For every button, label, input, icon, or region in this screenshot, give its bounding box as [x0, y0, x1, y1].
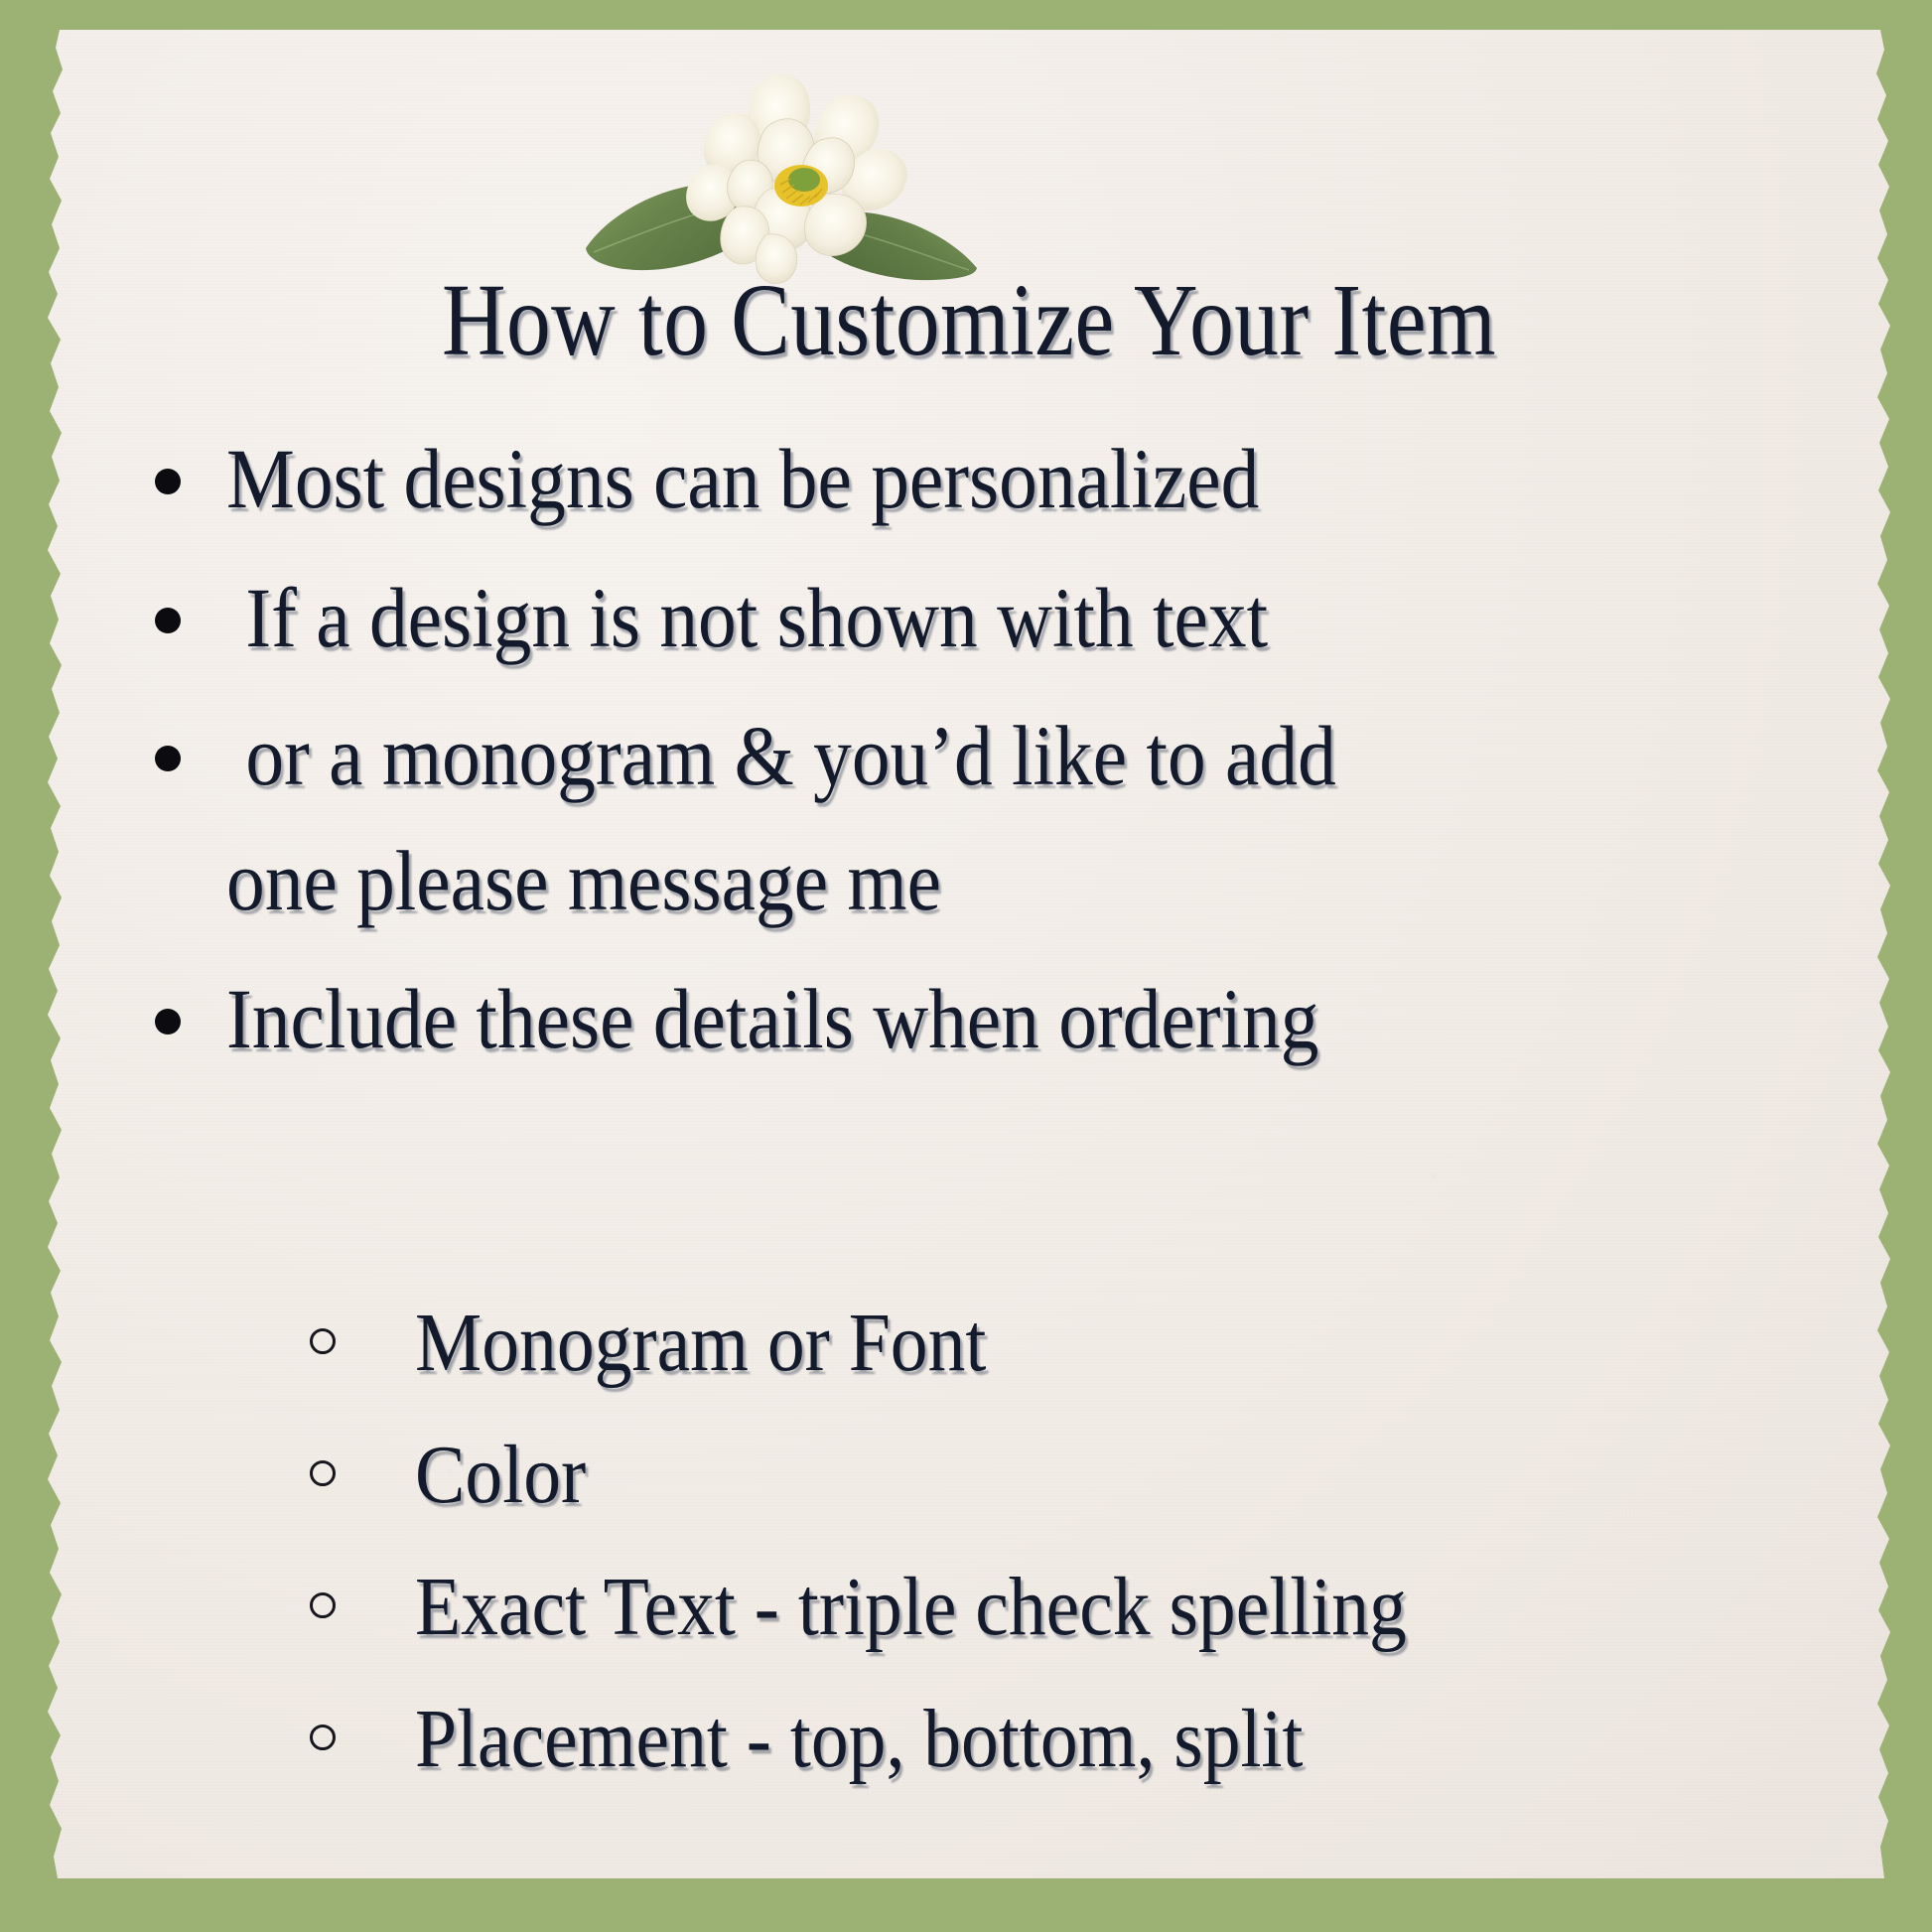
torn-paper-edge-right: [1859, 30, 1896, 1878]
page-title: How to Customize Your Item: [172, 266, 1766, 374]
bullet-label: Most designs can be personalized: [226, 417, 1683, 542]
magnolia-flower-icon: [574, 58, 991, 286]
ordering-details-sublist: Monogram or Font Color Exact Text - trip…: [300, 1289, 1849, 1817]
hollow-circle-icon: [310, 1725, 336, 1750]
list-item: Color: [300, 1421, 1849, 1531]
bullet-label-continued: one please message me: [226, 819, 1683, 944]
hollow-circle-icon: [310, 1328, 336, 1354]
torn-paper-edge-left: [42, 30, 79, 1878]
list-item: Placement - top, bottom, split: [300, 1685, 1849, 1795]
bullet-label: If a design is not shown with text: [226, 556, 1683, 681]
list-item: If a design is not shown with text: [117, 556, 1845, 681]
bullet-label: or a monogram & you’d like to add: [226, 694, 1683, 819]
sub-bullet-label: Color: [415, 1421, 1706, 1531]
filled-dot-icon: [155, 469, 181, 494]
list-item: Most designs can be personalized: [117, 417, 1845, 542]
paper-sheet: How to Customize Your Item Most designs …: [42, 30, 1896, 1878]
bullet-label: Include these details when ordering: [226, 957, 1683, 1082]
list-item: Monogram or Font: [300, 1289, 1849, 1399]
filled-dot-icon: [155, 1009, 181, 1035]
sub-bullet-label: Monogram or Font: [415, 1289, 1706, 1399]
poster-canvas: How to Customize Your Item Most designs …: [0, 0, 1932, 1932]
filled-dot-icon: [155, 746, 181, 771]
list-item: Exact Text - triple check spelling: [300, 1553, 1849, 1663]
list-item: Include these details when ordering: [117, 957, 1845, 1082]
sub-bullet-label: Exact Text - triple check spelling: [415, 1553, 1706, 1663]
list-item: or a monogram & you’d like to add one pl…: [117, 694, 1845, 943]
hollow-circle-icon: [310, 1592, 336, 1618]
filled-dot-icon: [155, 608, 181, 633]
hollow-circle-icon: [310, 1460, 336, 1486]
instruction-bullet-list: Most designs can be personalized If a de…: [117, 417, 1845, 1096]
sub-bullet-label: Placement - top, bottom, split: [415, 1685, 1706, 1795]
